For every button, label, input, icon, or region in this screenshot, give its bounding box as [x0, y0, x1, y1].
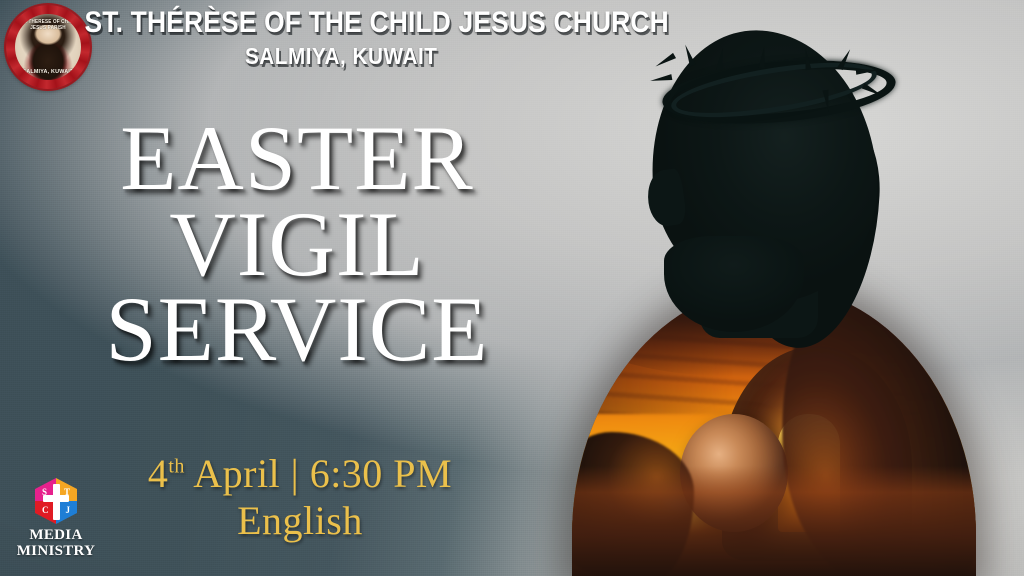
month-name: April [193, 451, 280, 496]
church-name: ST. THÉRÈSE OF THE CHILD JESUS CHURCH [0, 8, 563, 39]
day-suffix: th [168, 456, 185, 478]
shield-letter-c: C [42, 505, 49, 515]
title-line-1: EASTER [52, 116, 542, 202]
shield-letter-j: J [66, 505, 71, 515]
crest-bottom-text: SALMIYA, KUWAIT [15, 69, 81, 75]
event-date-time: 4th April | 6:30 PM [60, 452, 540, 495]
event-time: 6:30 PM [310, 451, 452, 496]
title-line-3: SERVICE [52, 287, 542, 373]
media-ministry-logo-icon: S T C J [35, 478, 77, 524]
cross-icon-horizontal [43, 495, 69, 502]
easter-vigil-poster: ST. THERESE OF CHILD JESUS PARISH SALMIY… [0, 0, 1024, 576]
poster-header: ST. THERESE OF CHILD JESUS PARISH SALMIY… [0, 0, 640, 70]
church-location: SALMIYA, KUWAIT [30, 43, 566, 70]
media-ministry-credit: S T C J MEDIA MINISTRY [4, 478, 108, 559]
event-details: 4th April | 6:30 PM English [60, 452, 540, 544]
media-ministry-line-1: MEDIA [4, 527, 108, 543]
day-number: 4 [148, 451, 169, 496]
event-language: English [60, 497, 540, 544]
cross-icon-vertical [53, 484, 60, 520]
event-title: EASTER VIGIL SERVICE [52, 116, 542, 373]
detail-separator: | [291, 451, 300, 496]
media-ministry-label: MEDIA MINISTRY [4, 527, 108, 559]
media-ministry-line-2: MINISTRY [4, 543, 108, 559]
title-line-2: VIGIL [52, 202, 542, 288]
